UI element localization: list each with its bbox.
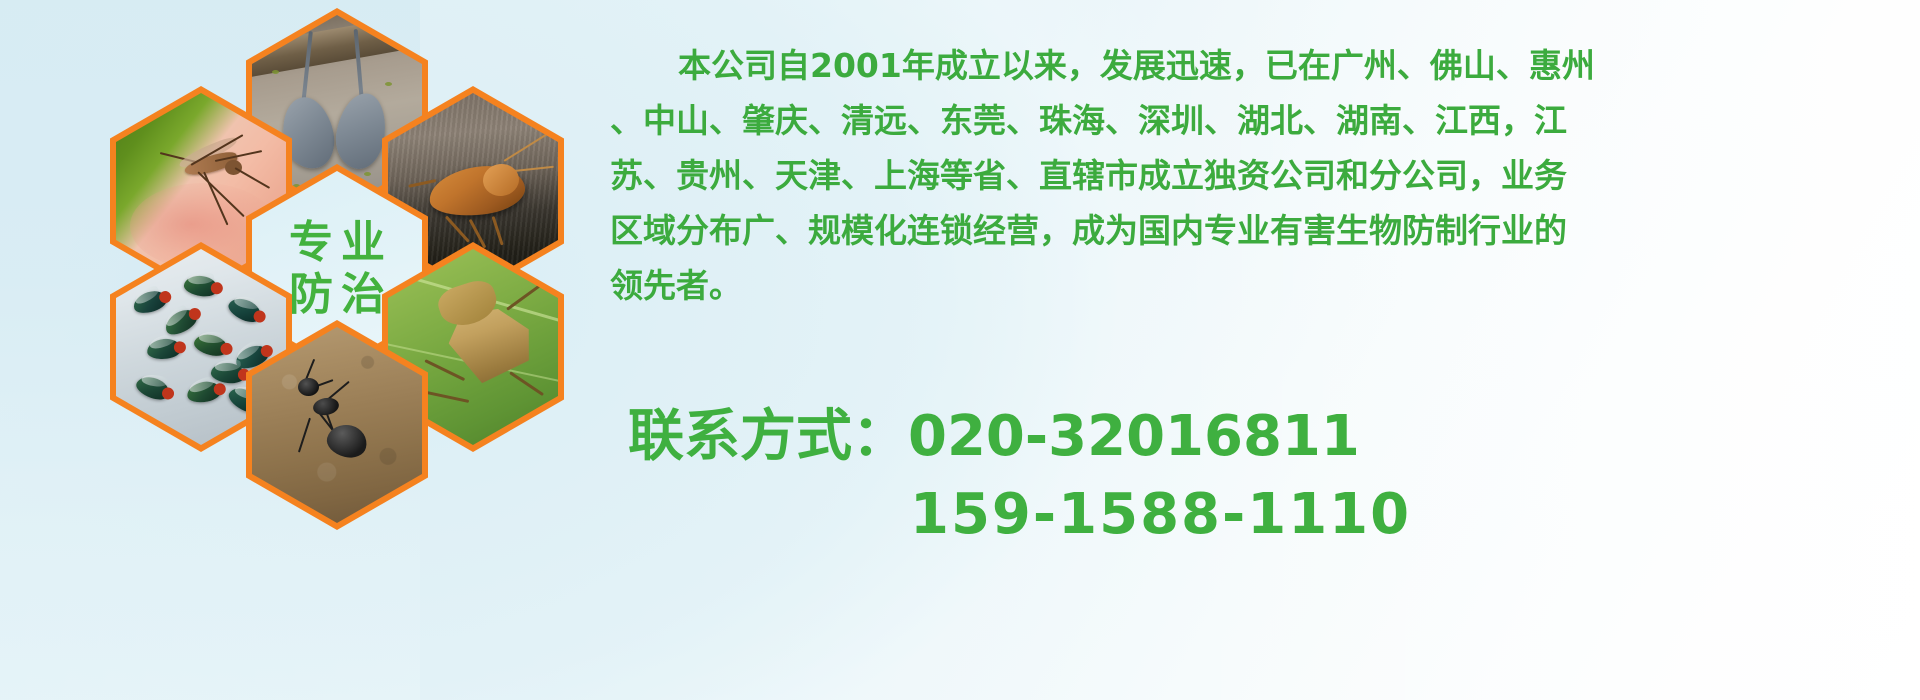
pest-control-banner: 专业 防治 <box>0 0 1920 700</box>
contact-primary-phone[interactable]: 联系方式：020-32016811 <box>628 398 1908 476</box>
center-badge-line-1: 专业 <box>281 220 393 266</box>
content-column: 本公司自2001年成立以来，发展迅速，已在广州、佛山、惠州 、中山、肇庆、清远、… <box>610 0 1920 700</box>
hex-photo-ant <box>252 327 422 523</box>
intro-line-2: 、中山、肇庆、清远、东莞、珠海、深圳、湖北、湖南、江西，江 <box>610 93 1910 148</box>
intro-line-5: 领先者。 <box>610 258 1910 313</box>
honeycomb-gallery: 专业 防治 <box>88 6 588 554</box>
intro-line-1: 本公司自2001年成立以来，发展迅速，已在广州、佛山、惠州 <box>610 38 1910 93</box>
ant-photo-icon <box>252 327 422 523</box>
contact-block: 联系方式：020-32016811 159-1588-1110 <box>628 398 1908 554</box>
intro-line-3: 苏、贵州、天津、上海等省、直辖市成立独资公司和分公司，业务 <box>610 148 1910 203</box>
center-badge-line-2: 防治 <box>281 272 393 318</box>
contact-secondary-phone[interactable]: 159-1588-1110 <box>628 476 1908 554</box>
company-intro-paragraph: 本公司自2001年成立以来，发展迅速，已在广州、佛山、惠州 、中山、肇庆、清远、… <box>610 38 1910 313</box>
intro-line-4: 区域分布广、规模化连锁经营，成为国内专业有害生物防制行业的 <box>610 203 1910 258</box>
